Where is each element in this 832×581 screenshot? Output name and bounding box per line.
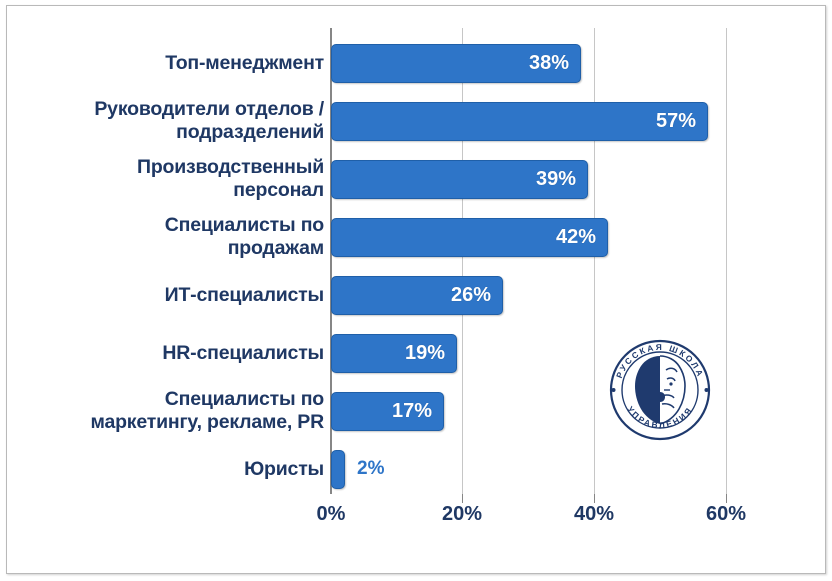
bar-row: Руководители отделов / подразделений 57% bbox=[0, 92, 832, 150]
bar-wrap-7: 2% bbox=[331, 450, 384, 489]
category-label-7: Юристы bbox=[0, 458, 324, 481]
bar-4[interactable]: 26% bbox=[331, 276, 503, 315]
svg-text:РУССКАЯ ШКОЛА: РУССКАЯ ШКОЛА bbox=[614, 342, 706, 379]
bar-row: ИТ-специалисты 26% bbox=[0, 266, 832, 324]
bar-wrap-3: 42% bbox=[331, 218, 608, 257]
bar-0[interactable]: 38% bbox=[331, 44, 581, 83]
bar-row: Юристы 2% bbox=[0, 440, 832, 498]
bar-wrap-6: 17% bbox=[331, 392, 444, 431]
category-label-1: Руководители отделов / подразделений bbox=[0, 98, 324, 144]
bar-3[interactable]: 42% bbox=[331, 218, 608, 257]
bar-value-0: 38% bbox=[529, 52, 580, 75]
xtick-label-3: 60% bbox=[681, 503, 771, 526]
brand-logo: РУССКАЯ ШКОЛА УПРАВЛЕНИЯ bbox=[604, 334, 716, 446]
bar-value-3: 42% bbox=[556, 226, 607, 249]
bar-row: Топ-менеджмент 38% bbox=[0, 34, 832, 92]
xtick-label-2: 40% bbox=[549, 503, 639, 526]
bar-7[interactable] bbox=[331, 450, 345, 489]
bar-value-4: 26% bbox=[451, 284, 502, 307]
chart-screenshot: Топ-менеджмент 38% Руководители отделов … bbox=[0, 0, 832, 581]
xtick-mark-40 bbox=[594, 494, 595, 503]
xtick-mark-60 bbox=[726, 494, 727, 503]
bar-value-7: 2% bbox=[357, 458, 384, 480]
bar-value-5: 19% bbox=[405, 342, 456, 365]
category-label-6: Специалисты по маркетингу, рекламе, PR bbox=[0, 388, 324, 434]
bar-5[interactable]: 19% bbox=[331, 334, 457, 373]
bar-wrap-0: 38% bbox=[331, 44, 581, 83]
bar-value-6: 17% bbox=[392, 400, 443, 423]
plot-area: Топ-менеджмент 38% Руководители отделов … bbox=[0, 0, 832, 581]
category-label-4: ИТ-специалисты bbox=[0, 284, 324, 307]
category-label-0: Топ-менеджмент bbox=[0, 52, 324, 75]
bar-1[interactable]: 57% bbox=[331, 102, 708, 141]
bar-wrap-4: 26% bbox=[331, 276, 503, 315]
bar-row: Специалисты по продажам 42% bbox=[0, 208, 832, 266]
category-label-2: Производственный персонал bbox=[0, 156, 324, 202]
bar-value-2: 39% bbox=[536, 168, 587, 191]
xtick-label-0: 0% bbox=[286, 503, 376, 526]
category-label-3: Специалисты по продажам bbox=[0, 214, 324, 260]
bar-value-1: 57% bbox=[656, 110, 707, 133]
bar-wrap-1: 57% bbox=[331, 102, 708, 141]
bar-2[interactable]: 39% bbox=[331, 160, 588, 199]
svg-text:УПРАВЛЕНИЯ: УПРАВЛЕНИЯ bbox=[625, 404, 694, 430]
bar-wrap-2: 39% bbox=[331, 160, 588, 199]
bar-6[interactable]: 17% bbox=[331, 392, 444, 431]
xtick-label-1: 20% bbox=[417, 503, 507, 526]
xtick-mark-20 bbox=[462, 494, 463, 503]
bar-wrap-5: 19% bbox=[331, 334, 457, 373]
bar-row: Производственный персонал 39% bbox=[0, 150, 832, 208]
category-label-5: HR-специалисты bbox=[0, 342, 324, 365]
